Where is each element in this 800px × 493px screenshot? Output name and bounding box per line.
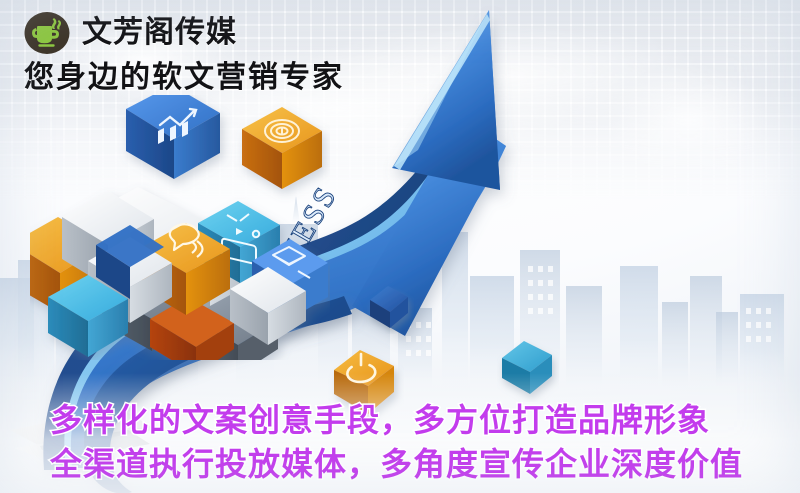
logo-block: 文芳阁传媒 (24, 10, 237, 56)
brand-name: 文芳阁传媒 (82, 18, 237, 48)
slogan-line-1: 多样化的文案创意手段，多方位打造品牌形象 (50, 398, 780, 442)
coffee-cup-m-logo-icon (24, 10, 70, 56)
cyan-cube (497, 336, 559, 402)
promo-banner: BUSINESS (0, 0, 800, 493)
navy-cube (366, 282, 414, 334)
tagline: 您身边的软文营销专家 (24, 63, 344, 93)
slogan-line-2: 全渠道执行投放媒体，多角度宣传企业深度价值 (50, 442, 780, 486)
slogan-block: 多样化的文案创意手段，多方位打造品牌形象 全渠道执行投放媒体，多角度宣传企业深度… (50, 398, 780, 486)
rubiks-cube (30, 95, 330, 360)
